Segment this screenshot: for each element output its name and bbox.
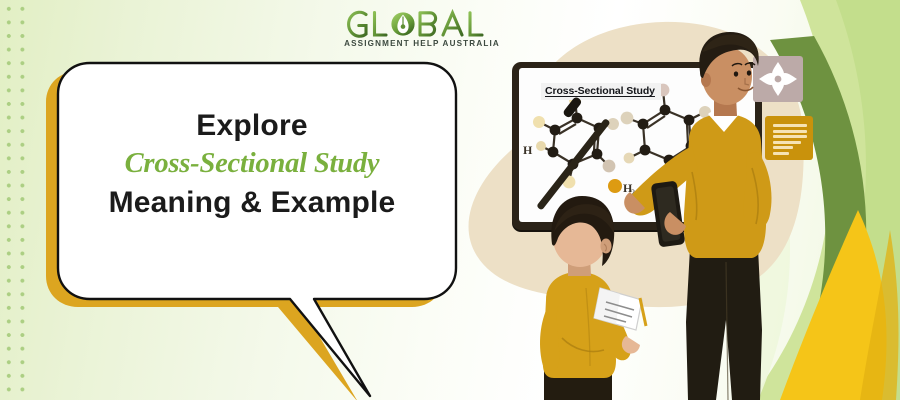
pointer-stick — [536, 96, 610, 211]
illustration-people — [440, 0, 900, 400]
student-figure — [540, 196, 646, 400]
bubble-line-2-highlight: Cross-Sectional Study — [62, 145, 442, 183]
speech-bubble-text: Explore Cross-Sectional Study Meaning & … — [62, 106, 442, 222]
speech-bubble-body — [52, 50, 472, 400]
speech-bubble: Explore Cross-Sectional Study Meaning & … — [40, 58, 460, 400]
bubble-line-3: Meaning & Example — [62, 183, 442, 222]
banner-canvas: ASSIGNMENT HELP AUSTRALIA Explore Cross-… — [0, 0, 900, 400]
dot-grid-pattern — [0, 0, 34, 400]
bubble-line-1: Explore — [62, 106, 442, 145]
